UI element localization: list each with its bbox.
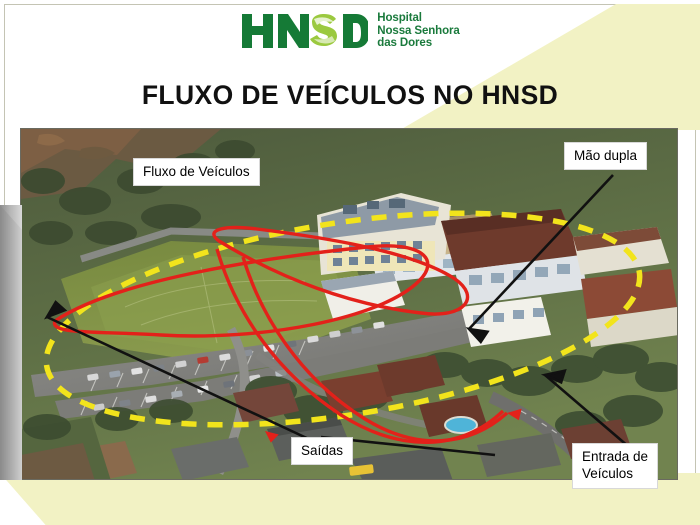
hnsd-logo-wordmark: Hospital Nossa Senhora das Dores [377,12,459,49]
logo-line-3: das Dores [377,37,459,49]
slide-frame-bottom [4,520,696,521]
page-title: FLUXO DE VEÍCULOS NO HNSD [0,80,700,111]
hnsd-logo-mark-icon [240,11,368,51]
slide-frame-top [4,4,696,5]
decorative-notch-bottom-left [0,473,120,525]
logo-line-2: Nossa Senhora [377,25,459,37]
presentation-slide: Hospital Nossa Senhora das Dores FLUXO D… [0,0,700,525]
callout-fluxo-de-veiculos: Fluxo de Veículos [133,158,260,186]
slide-left-gray-band-edge [0,205,22,480]
logo-line-1: Hospital [377,12,459,24]
callout-mao-dupla: Mão dupla [564,142,647,170]
callout-saidas: Saídas [291,437,353,465]
slide-left-gray-band [0,205,22,480]
hnsd-logo: Hospital Nossa Senhora das Dores [0,8,700,54]
callout-entrada-de-veiculos: Entrada de Veículos [572,443,658,489]
aerial-photo [20,128,678,480]
